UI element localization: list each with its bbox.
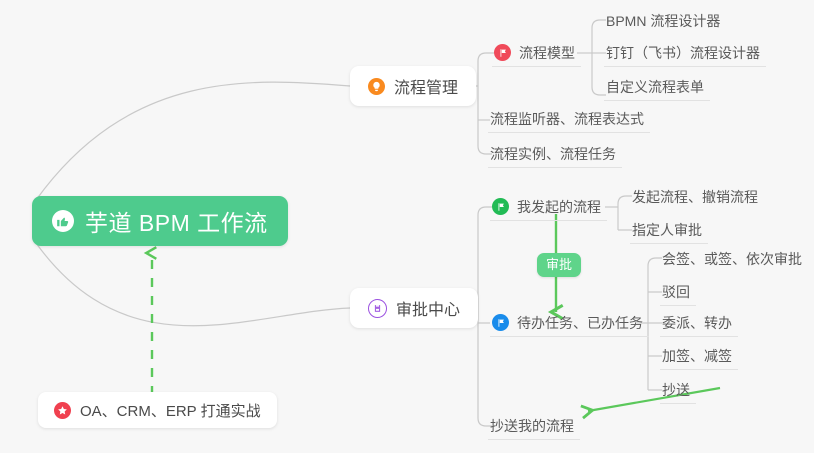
node-custom-process-form[interactable]: 自定义流程表单	[604, 73, 710, 101]
approval-badge[interactable]: 审批	[537, 253, 581, 277]
node-add-remove-sign-label: 加签、减签	[662, 346, 732, 366]
node-delegate-transfer[interactable]: 委派、转办	[660, 309, 738, 337]
node-todo-done-task[interactable]: 待办任务、已办任务	[490, 309, 649, 337]
node-cc-to-me-process-label: 抄送我的流程	[490, 416, 574, 436]
node-process-instance-task[interactable]: 流程实例、流程任务	[488, 140, 622, 168]
node-countersign-or-sequential[interactable]: 会签、或签、依次审批	[660, 245, 808, 273]
node-countersign-or-sequential-label: 会签、或签、依次审批	[662, 249, 802, 269]
branch-approval-center-label: 审批中心	[396, 296, 460, 320]
flag-icon	[492, 314, 509, 331]
node-process-model-label: 流程模型	[519, 43, 575, 63]
node-custom-process-form-label: 自定义流程表单	[606, 77, 704, 97]
node-dingtalk-feishu-designer-label: 钉钉（飞书）流程设计器	[606, 43, 760, 63]
node-oa-crm-erp[interactable]: OA、CRM、ERP 打通实战	[38, 392, 277, 428]
node-cc-label: 抄送	[662, 380, 690, 400]
node-todo-done-task-label: 待办任务、已办任务	[517, 313, 643, 333]
clipboard-icon	[368, 299, 387, 318]
root-node-label: 芋道 BPM 工作流	[85, 204, 268, 238]
node-process-listener-expression-label: 流程监听器、流程表达式	[490, 109, 644, 129]
node-bpmn-designer[interactable]: BPMN 流程设计器	[604, 7, 726, 35]
node-start-cancel-process[interactable]: 发起流程、撤销流程	[630, 183, 764, 211]
node-cc-to-me-process[interactable]: 抄送我的流程	[488, 412, 580, 440]
branch-process-management[interactable]: 流程管理	[350, 66, 476, 106]
node-my-initiated-process-label: 我发起的流程	[517, 197, 601, 217]
node-process-model[interactable]: 流程模型	[492, 39, 581, 67]
approval-badge-label: 审批	[546, 257, 572, 272]
branch-approval-center[interactable]: 审批中心	[350, 288, 478, 328]
flag-icon	[494, 44, 511, 61]
node-process-listener-expression[interactable]: 流程监听器、流程表达式	[488, 105, 650, 133]
branch-process-management-label: 流程管理	[394, 74, 458, 98]
node-reject-label: 驳回	[662, 282, 690, 302]
cc-to-ccme-arrow	[588, 388, 720, 411]
node-oa-crm-erp-label: OA、CRM、ERP 打通实战	[80, 400, 261, 421]
node-assignee-approval-label: 指定人审批	[632, 220, 702, 240]
node-process-instance-task-label: 流程实例、流程任务	[490, 144, 616, 164]
node-my-initiated-process[interactable]: 我发起的流程	[490, 193, 607, 221]
link-root-to-approval-center	[36, 243, 350, 326]
node-delegate-transfer-label: 委派、转办	[662, 313, 732, 333]
node-start-cancel-process-label: 发起流程、撤销流程	[632, 187, 758, 207]
node-reject[interactable]: 驳回	[660, 278, 696, 306]
root-node[interactable]: 芋道 BPM 工作流	[32, 196, 288, 246]
node-add-remove-sign[interactable]: 加签、减签	[660, 342, 738, 370]
lightbulb-icon	[368, 78, 385, 95]
node-cc[interactable]: 抄送	[660, 376, 696, 404]
flag-icon	[492, 198, 509, 215]
star-icon	[54, 402, 71, 419]
thumbs-up-icon	[52, 210, 74, 232]
node-bpmn-designer-label: BPMN 流程设计器	[606, 11, 720, 31]
mindmap-canvas: 芋道 BPM 工作流 流程管理 流程模型 BPMN 流程设计器 钉钉（飞书）流程…	[0, 0, 814, 453]
node-assignee-approval[interactable]: 指定人审批	[630, 216, 708, 244]
node-dingtalk-feishu-designer[interactable]: 钉钉（飞书）流程设计器	[604, 39, 766, 67]
link-root-to-process-management	[36, 82, 350, 200]
